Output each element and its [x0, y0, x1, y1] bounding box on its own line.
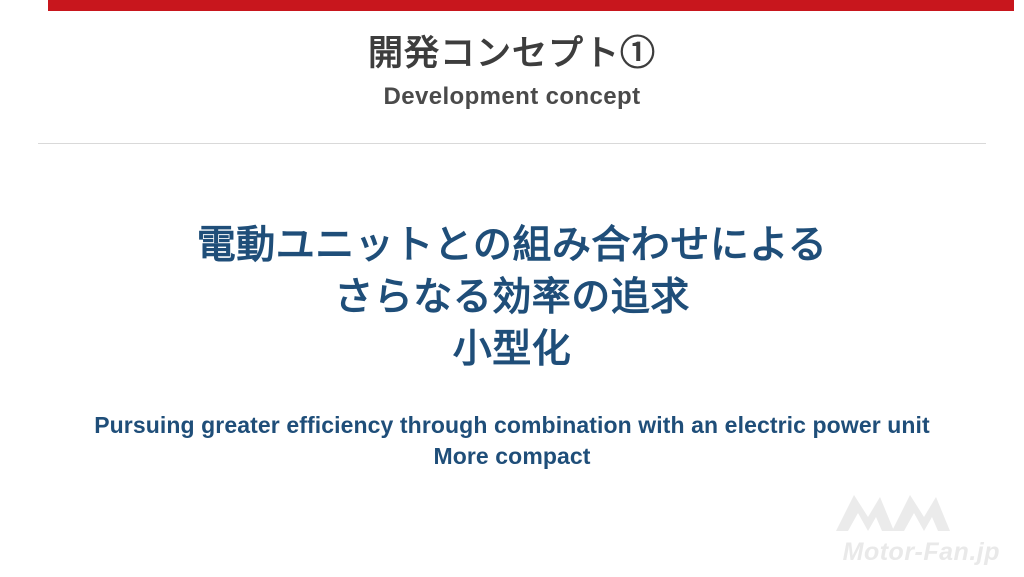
body-english-line-1: Pursuing greater efficiency through comb…: [0, 410, 1024, 442]
watermark-text: Motor-Fan.jp: [770, 538, 1000, 567]
slide-header: 開発コンセプト① Development concept: [0, 34, 1024, 111]
bottom-margin-strip: [0, 571, 1024, 577]
slide-root: 開発コンセプト① Development concept 電動ユニットとの組み合…: [0, 0, 1024, 577]
slide-body: 電動ユニットとの組み合わせによる さらなる効率の追求 小型化 Pursuing …: [0, 220, 1024, 473]
page-title-english: Development concept: [0, 83, 1024, 111]
top-bar-red-segment: [48, 0, 1014, 11]
page-title-japanese: 開発コンセプト①: [0, 34, 1024, 74]
body-japanese: 電動ユニットとの組み合わせによる さらなる効率の追求 小型化: [0, 220, 1024, 376]
top-bar-left-gap: [0, 0, 48, 11]
body-japanese-line-3: 小型化: [0, 324, 1024, 376]
header-divider: [38, 143, 986, 144]
body-english-line-2: More compact: [0, 441, 1024, 473]
mf-logo-icon: [834, 491, 954, 535]
body-english: Pursuing greater efficiency through comb…: [0, 410, 1024, 473]
watermark: Motor-Fan.jp: [770, 491, 1000, 569]
body-japanese-line-2: さらなる効率の追求: [0, 272, 1024, 324]
body-japanese-line-1: 電動ユニットとの組み合わせによる: [0, 220, 1024, 272]
top-accent-bar: [0, 0, 1024, 11]
